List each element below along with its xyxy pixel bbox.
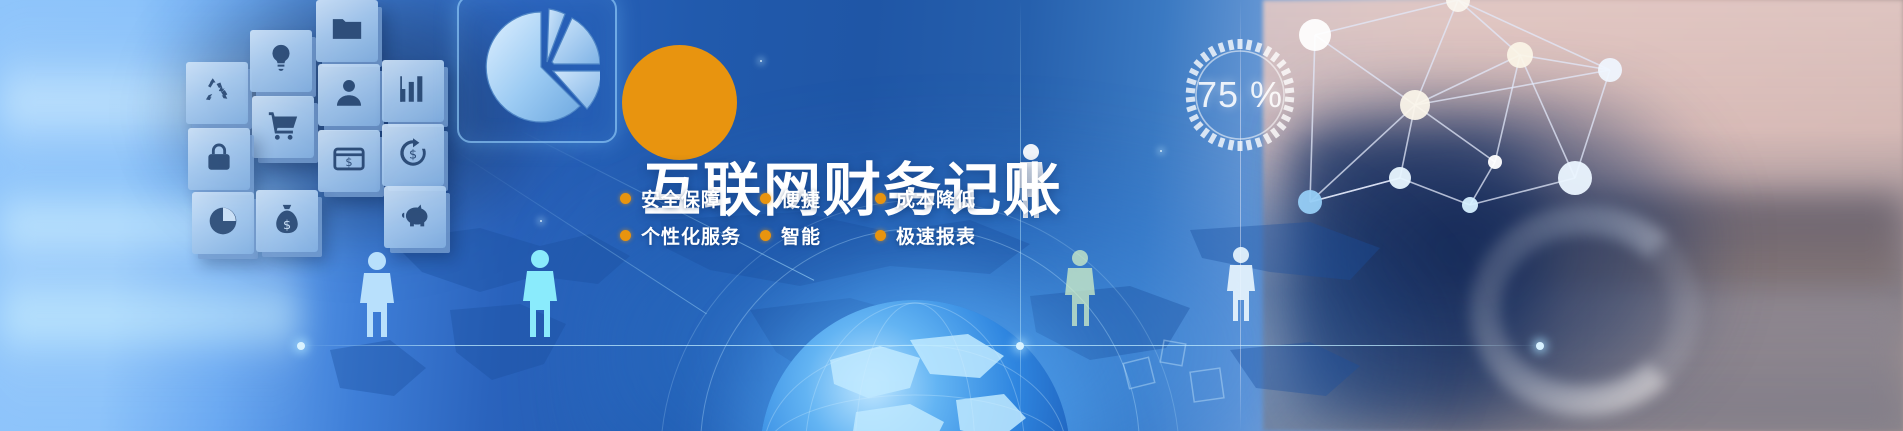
cube-lightbulb [250,30,312,92]
feature-item-1[interactable]: 便捷 [760,185,875,212]
cube-lock [188,128,250,190]
cube-folder [316,0,378,62]
bullet-dot-icon [875,193,886,204]
globe-graphic [760,300,1070,431]
feature-label: 成本降低 [896,185,976,212]
icon-cube-stack: $ $ $ [170,0,480,240]
cube-dollar-refresh: $ [382,124,444,186]
shopping-cart-icon [266,108,300,147]
line-endpoint-dot-right [1536,342,1544,350]
feature-item-2[interactable]: 成本降低 [875,185,976,212]
square-outlines-graphic [1120,330,1240,420]
bullet-dot-icon [620,193,631,204]
bullet-dot-icon [760,230,771,241]
sparkle-3 [1160,150,1162,152]
svg-text:$: $ [409,147,417,162]
feature-label: 便捷 [781,185,821,212]
feature-item-5[interactable]: 极速报表 [875,222,976,249]
pie-slice-icon [206,204,240,243]
person-pictogram-4 [1222,245,1260,325]
piggy-bank-icon [398,198,432,237]
sparkle-1 [760,60,762,62]
recycle-icon [200,74,234,113]
money-bag-icon: $ [270,202,304,241]
feature-label: 智能 [781,222,821,249]
svg-text:$: $ [345,155,352,169]
sparkle-2 [540,220,542,222]
bullet-dot-icon [875,230,886,241]
person-pictogram-1 [355,250,399,340]
cube-bar-chart [382,60,444,122]
user-icon [332,76,366,115]
bullet-dot-icon [760,193,771,204]
line-endpoint-dot-mid [1016,342,1024,350]
pie-chart-graphic [482,8,600,126]
cube-money-bag: $ [256,190,318,252]
cube-credit-card: $ [318,130,380,192]
bullet-dot-icon [620,230,631,241]
cube-pie-slice [192,192,254,254]
cube-cart [252,96,314,158]
feature-item-3[interactable]: 个性化服务 [620,222,760,249]
cube-recycle [186,62,248,124]
bar-chart-icon [396,72,430,111]
feature-row-2: 个性化服务 智能 极速报表 [620,217,1020,254]
feature-list: 安全保障 便捷 成本降低 个性化服务 智能 极速报表 [620,180,1020,254]
cube-piggy-bank [384,186,446,248]
horizontal-guide-line [300,345,1540,346]
lock-icon [202,140,236,179]
folder-icon [330,12,364,51]
lightbulb-icon [264,42,298,81]
feature-item-0[interactable]: 安全保障 [620,185,760,212]
credit-card-dollar-icon: $ [332,142,366,181]
promo-banner: $ $ $ [0,0,1903,431]
cube-user [318,64,380,126]
dollar-refresh-icon: $ [396,136,430,175]
line-endpoint-dot-left [297,342,305,350]
person-pictogram-2 [518,248,562,340]
feature-label: 个性化服务 [641,222,741,249]
feature-item-4[interactable]: 智能 [760,222,875,249]
feature-row-1: 安全保障 便捷 成本降低 [620,180,1020,217]
person-pictogram-5 [1060,248,1100,330]
feature-label: 极速报表 [896,222,976,249]
svg-text:$: $ [283,217,291,232]
network-graph-graphic [1280,0,1660,220]
feature-label: 安全保障 [641,185,721,212]
